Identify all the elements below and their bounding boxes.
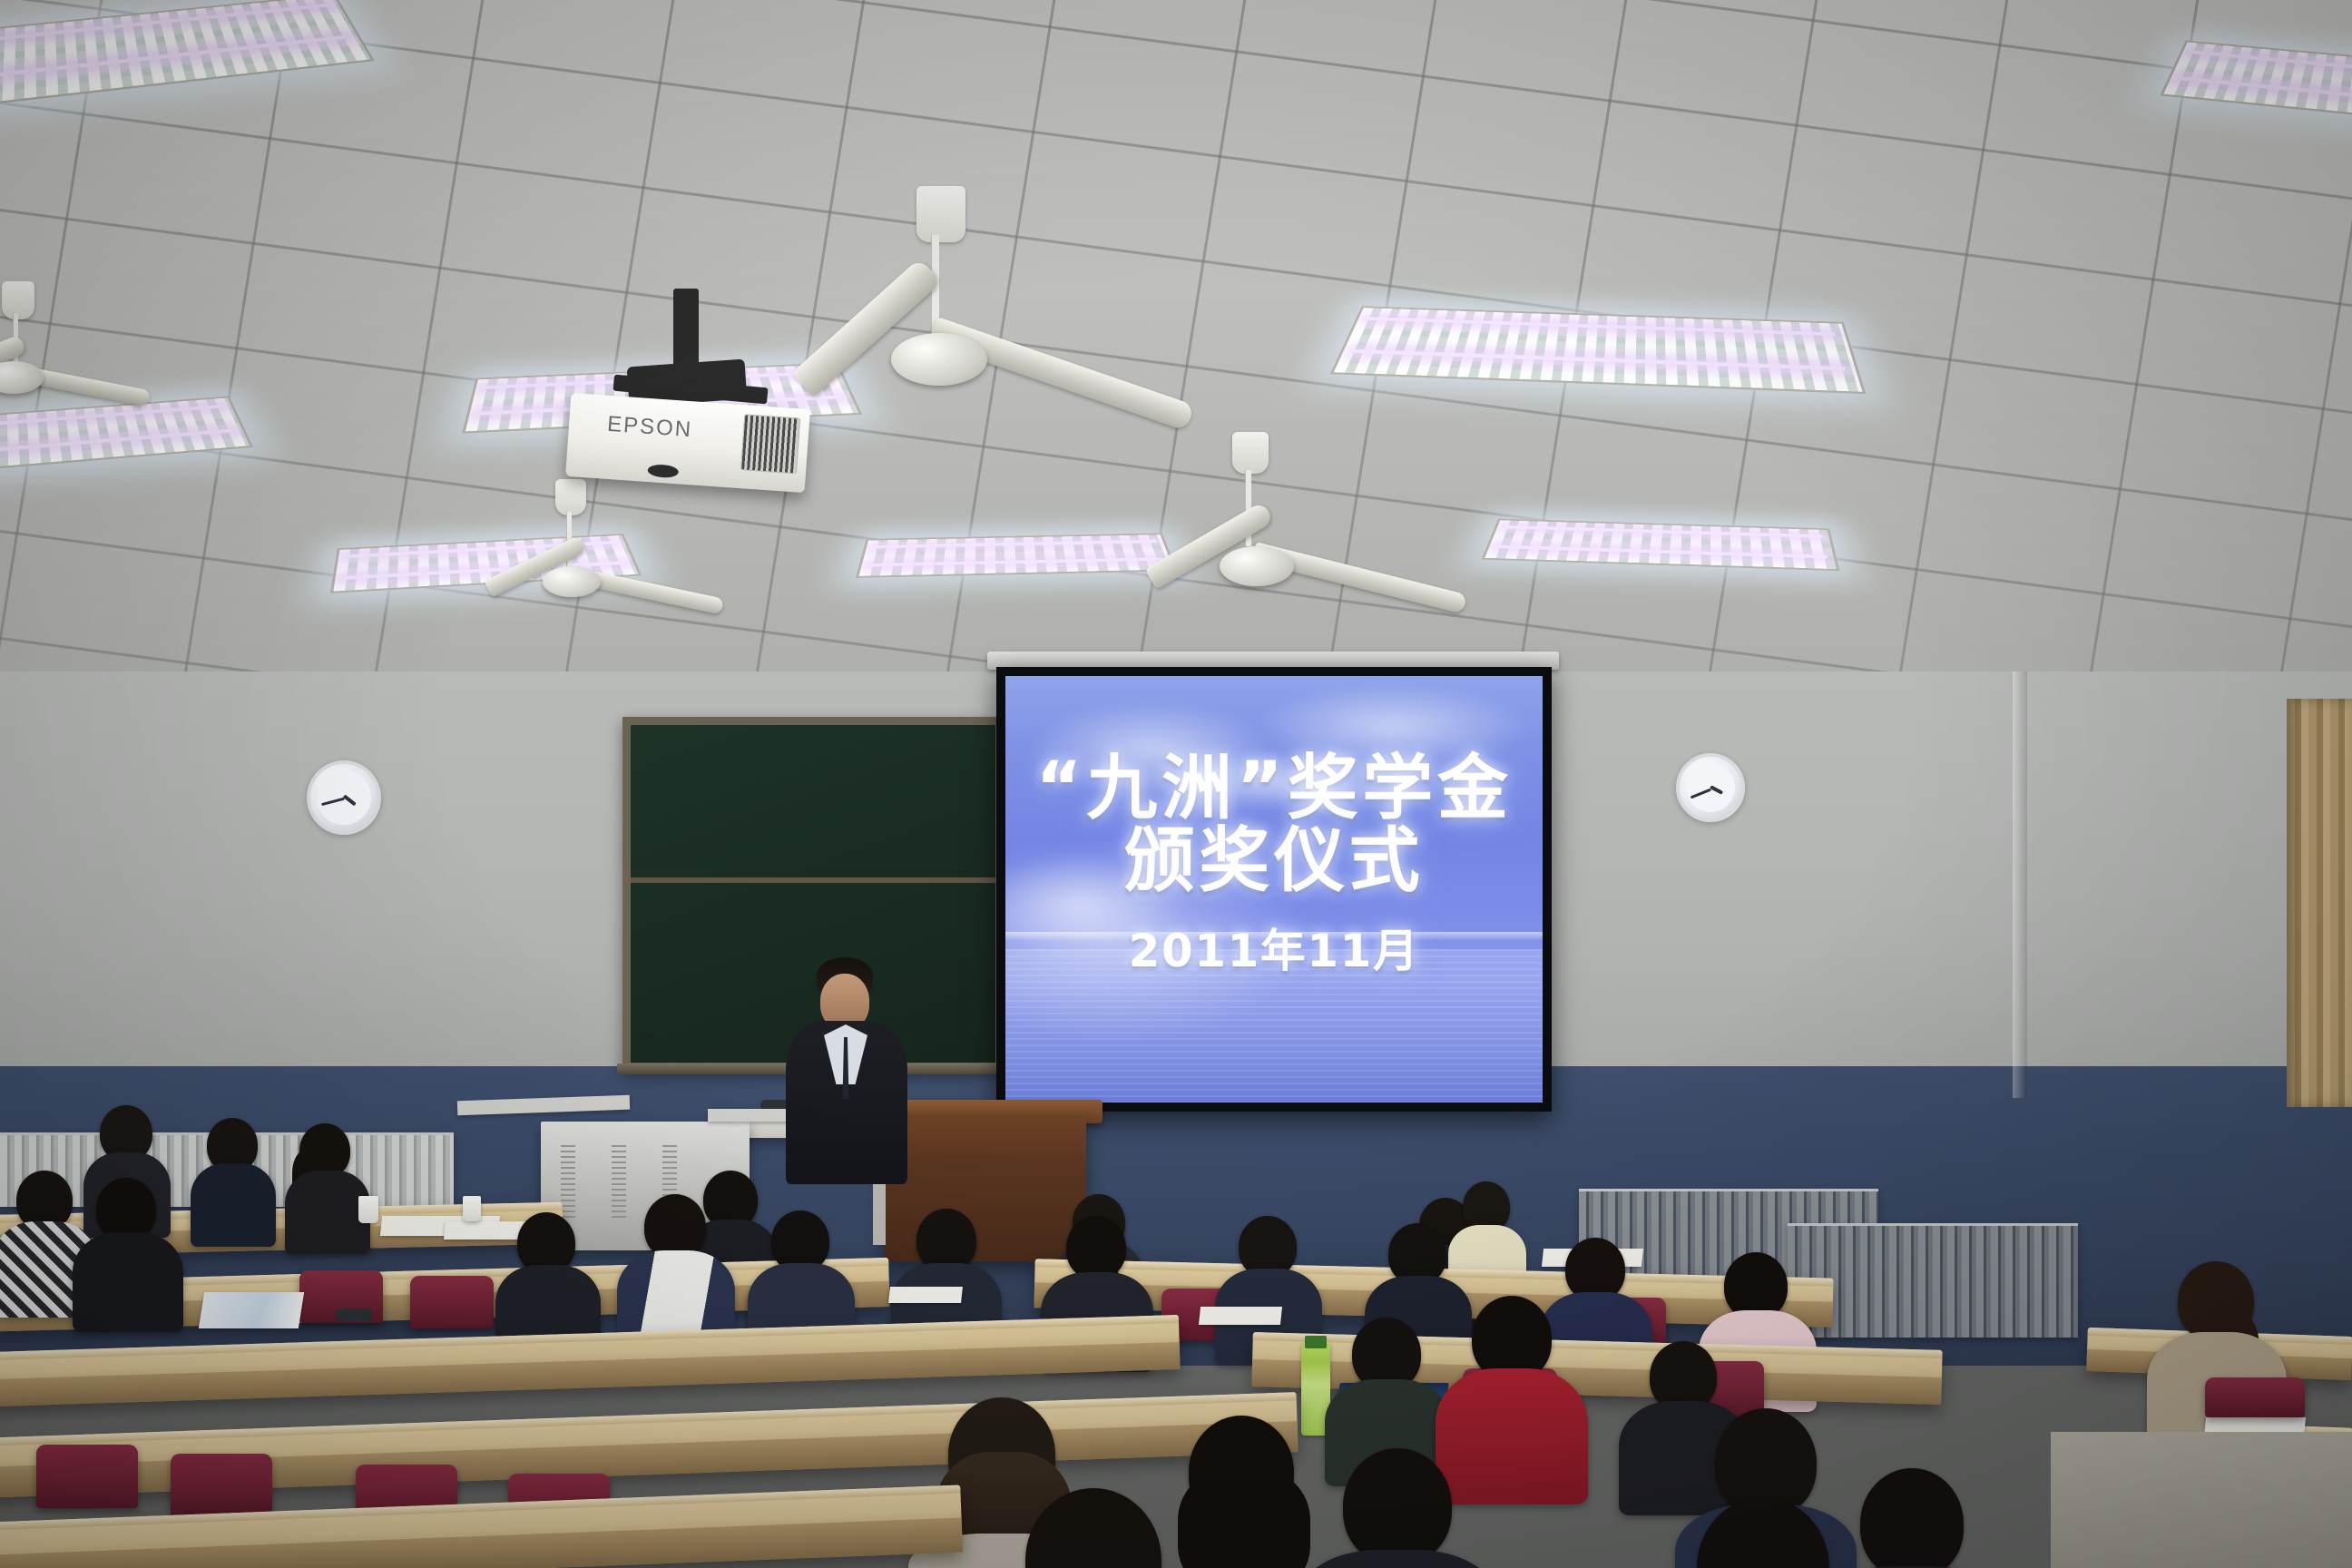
torso bbox=[1299, 1550, 1495, 1568]
chalkboard bbox=[622, 717, 1004, 1071]
paper-sheet bbox=[888, 1287, 963, 1303]
paper-cup bbox=[463, 1196, 481, 1221]
torso bbox=[1436, 1368, 1588, 1504]
projector-lens bbox=[647, 464, 679, 478]
ceiling-tile-grid bbox=[0, 0, 2352, 708]
wall-corner-edge bbox=[2013, 671, 2027, 1098]
slide-title-line-2: 颁奖仪式 bbox=[1005, 804, 1543, 906]
slide-date: 2011年11月 bbox=[1005, 915, 1543, 980]
bottle-cap bbox=[1305, 1336, 1327, 1348]
classroom-photo-scene: EPSON “九洲”奖学金 颁奖仪式 2011 bbox=[0, 0, 2352, 1568]
window-curtain bbox=[2287, 699, 2352, 1107]
ceiling-light-panel bbox=[856, 534, 1178, 578]
head bbox=[1860, 1468, 1964, 1568]
cabinet-vent bbox=[612, 1142, 626, 1218]
right-wall-clock bbox=[1676, 753, 1745, 822]
torso bbox=[73, 1232, 183, 1332]
projector-brand-label: EPSON bbox=[606, 412, 693, 443]
left-wall-clock bbox=[307, 760, 381, 835]
paper-cup bbox=[358, 1196, 378, 1223]
chair bbox=[36, 1445, 138, 1508]
podium bbox=[885, 1118, 1086, 1261]
floor bbox=[2051, 1432, 2352, 1568]
projector: EPSON bbox=[565, 393, 810, 493]
projector-vent bbox=[740, 414, 800, 474]
cabinet-vent bbox=[561, 1142, 575, 1218]
chair bbox=[2205, 1377, 2305, 1417]
torso bbox=[285, 1171, 370, 1254]
presentation-slide: “九洲”奖学金 颁奖仪式 2011年11月 bbox=[1005, 676, 1543, 1102]
suspended-ceiling: EPSON bbox=[0, 0, 2352, 708]
paper-sheet bbox=[1199, 1307, 1282, 1325]
head bbox=[1343, 1448, 1452, 1564]
projection-screen: “九洲”奖学金 颁奖仪式 2011年11月 bbox=[996, 667, 1552, 1112]
mobile-phone bbox=[336, 1308, 372, 1321]
student-desk-row bbox=[0, 1485, 963, 1568]
chalkboard-divider bbox=[631, 877, 995, 883]
booklet bbox=[199, 1292, 304, 1328]
hair bbox=[1178, 1468, 1310, 1568]
chair bbox=[410, 1276, 494, 1328]
torso bbox=[191, 1163, 276, 1247]
chair bbox=[171, 1454, 272, 1517]
